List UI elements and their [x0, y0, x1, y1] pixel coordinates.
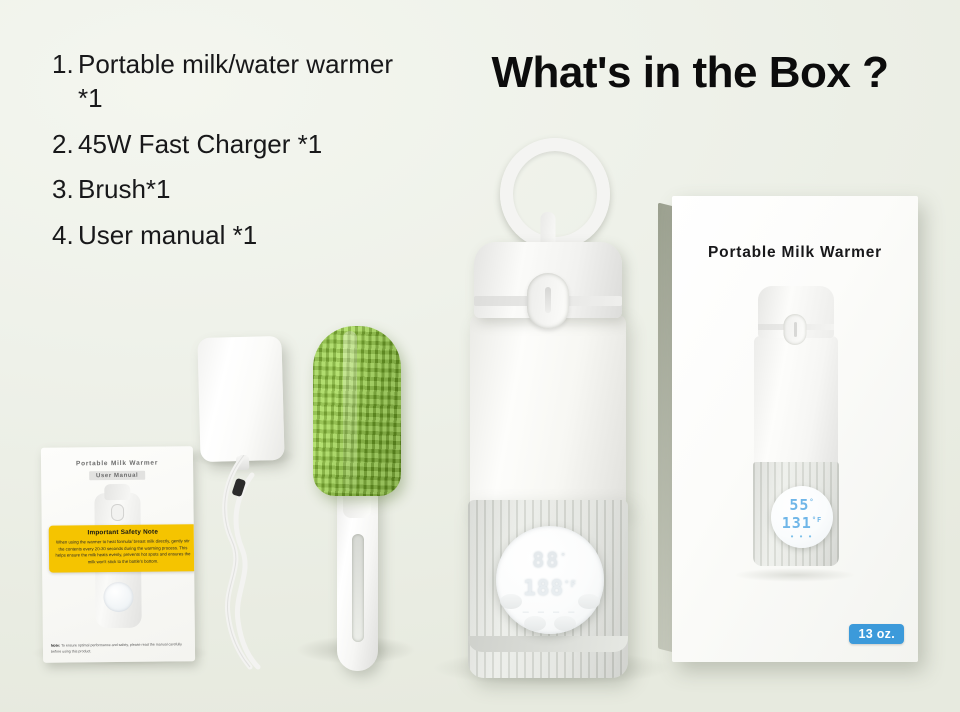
list-item-number: 4.: [52, 219, 78, 253]
charger-cable: [214, 455, 280, 670]
list-item-label: 45W Fast Charger *1: [78, 128, 412, 162]
list-item-number: 1.: [52, 48, 78, 116]
dial-lug-left: [500, 594, 522, 609]
fast-charger-brick: [197, 336, 284, 462]
retail-box-product-image: 55° 131°F • • •: [746, 286, 844, 572]
manual-footnote-text: To ensure optimal performance and safety…: [51, 643, 182, 654]
manual-product-button-icon: [111, 504, 124, 521]
dial-lug-right: [578, 594, 600, 609]
warmer-base-rim: [468, 636, 628, 652]
list-item-label: Brush*1: [78, 173, 412, 207]
box-display-temp-fahrenheit: 131°F: [771, 514, 833, 532]
list-item: 4. User manual *1: [52, 219, 412, 253]
list-item-label: User manual *1: [78, 219, 412, 253]
manual-title: Portable Milk Warmer: [41, 459, 193, 468]
warmer-body: [470, 314, 626, 510]
manual-footnote-label: Note:: [51, 644, 60, 648]
portable-milk-warmer: 88° 188°F – – – –: [448, 138, 648, 678]
manual-footnote: Note: To ensure optimal performance and …: [51, 643, 187, 655]
box-product-display-dial: 55° 131°F • • •: [771, 486, 833, 548]
brush-grip-hole: [352, 534, 364, 642]
box-product-reflection: [734, 568, 856, 582]
box-display-indicator-dots: • • •: [771, 532, 833, 541]
cleaning-brush: [305, 326, 409, 671]
retail-box-front-panel: Portable Milk Warmer 55° 131°F • • •: [672, 196, 918, 662]
dial-lug-bottom-right: [554, 616, 576, 631]
safety-note-box: Important Safety Note When using the war…: [49, 524, 195, 572]
dial-lug-bottom-left: [524, 616, 546, 631]
brush-bristle-head: [313, 326, 401, 496]
retail-box-title: Portable Milk Warmer: [672, 244, 918, 262]
warmer-display-dial[interactable]: 88° 188°F – – – –: [496, 526, 604, 634]
cable-connector-tip: [231, 478, 246, 497]
retail-box: Portable Milk Warmer 55° 131°F • • •: [672, 196, 924, 664]
manual-subtitle: User Manual: [89, 471, 145, 481]
list-item: 1. Portable milk/water warmer *1: [52, 48, 412, 116]
safety-note-heading: Important Safety Note: [54, 528, 192, 536]
list-item-number: 2.: [52, 128, 78, 162]
contents-list: 1. Portable milk/water warmer *1 2. 45W …: [52, 48, 412, 265]
user-manual: Portable Milk Warmer User Manual Importa…: [41, 446, 195, 663]
capacity-badge: 13 oz.: [849, 624, 904, 644]
page-title: What's in the Box ?: [455, 48, 925, 98]
list-item-label: Portable milk/water warmer *1: [78, 48, 412, 116]
list-item: 3. Brush*1: [52, 173, 412, 207]
list-item-number: 3.: [52, 173, 78, 207]
box-display-temp-celsius: 55°: [771, 496, 833, 514]
box-product-button-icon: [784, 314, 807, 345]
display-temp-celsius: 88°: [496, 548, 604, 572]
list-item: 2. 45W Fast Charger *1: [52, 128, 412, 162]
safety-note-body: When using the warmer to heat formula/ b…: [54, 538, 192, 566]
lid-release-button[interactable]: [527, 273, 569, 329]
infographic-canvas: What's in the Box ? 1. Portable milk/wat…: [0, 0, 960, 712]
manual-product-dial-icon: [103, 582, 133, 612]
box-product-body: [754, 336, 838, 466]
